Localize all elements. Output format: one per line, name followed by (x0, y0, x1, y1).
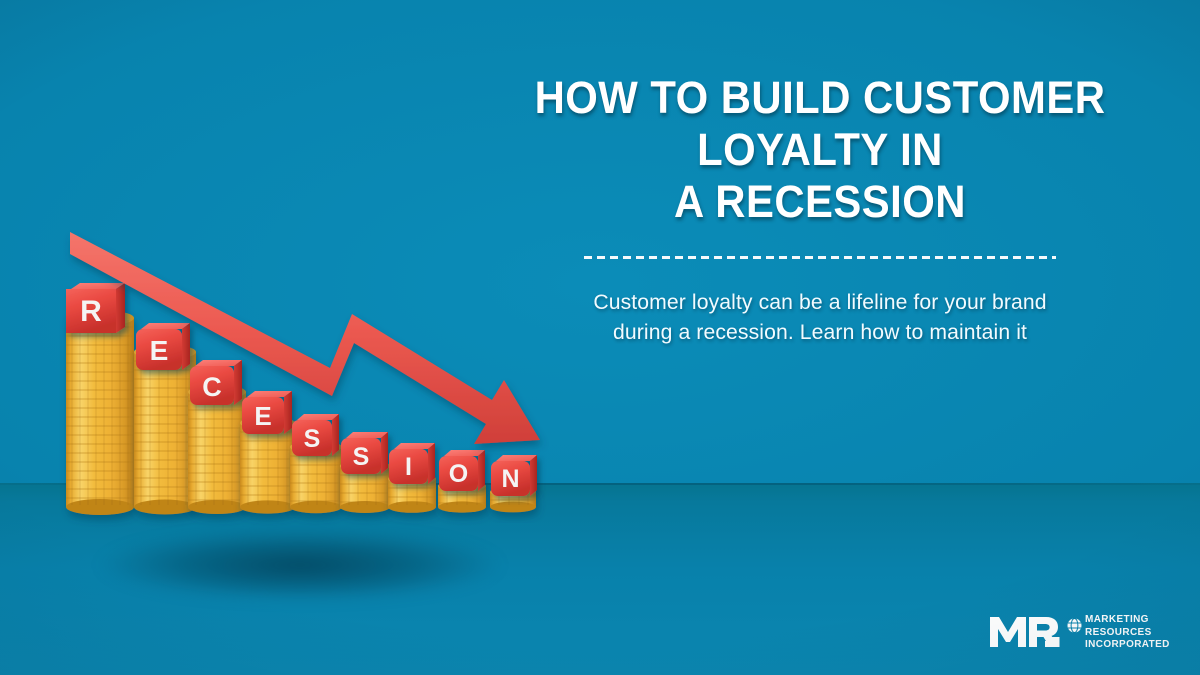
svg-text:S: S (304, 425, 321, 453)
letter-cube-S2: S (341, 432, 388, 474)
mri-wordmark-icon (988, 614, 1062, 650)
page-title: HOW TO BUILD CUSTOMER LOYALTY IN A RECES… (522, 72, 1117, 229)
svg-text:O: O (449, 460, 468, 488)
coin-stack-1 (66, 310, 134, 515)
svg-text:S: S (353, 443, 370, 471)
svg-text:I: I (405, 453, 412, 481)
dashed-divider (584, 256, 1056, 259)
page-subtitle: Customer loyalty can be a lifeline for y… (505, 287, 1135, 348)
ground-shadow (40, 519, 560, 611)
svg-text:R: R (80, 295, 102, 328)
letter-cube-S1: S (292, 414, 339, 456)
svg-text:E: E (254, 401, 271, 431)
svg-text:N: N (501, 465, 519, 493)
poster-canvas: R E C (0, 0, 1200, 675)
letter-cube-E1: E (136, 323, 190, 370)
letter-cube-O: O (439, 450, 485, 491)
letter-cube-R: R (66, 283, 125, 333)
logo-tagline: MARKETING RESOURCES INCORPORATED (1085, 613, 1170, 650)
letter-cube-E2: E (242, 391, 292, 434)
letter-cube-N: N (491, 455, 537, 496)
logo-line-3: INCORPORATED (1085, 638, 1170, 650)
globe-icon (1067, 618, 1082, 633)
letter-cube-I: I (389, 443, 435, 484)
svg-text:E: E (150, 335, 169, 366)
logo-line-2: RESOURCES (1085, 626, 1170, 638)
logo-line-1: MARKETING (1085, 613, 1170, 625)
text-column: HOW TO BUILD CUSTOMER LOYALTY IN A RECES… (500, 72, 1140, 348)
letter-cube-C: C (190, 360, 242, 405)
svg-text:C: C (202, 372, 222, 402)
mri-logo[interactable]: MARKETING RESOURCES INCORPORATED (988, 610, 1174, 654)
